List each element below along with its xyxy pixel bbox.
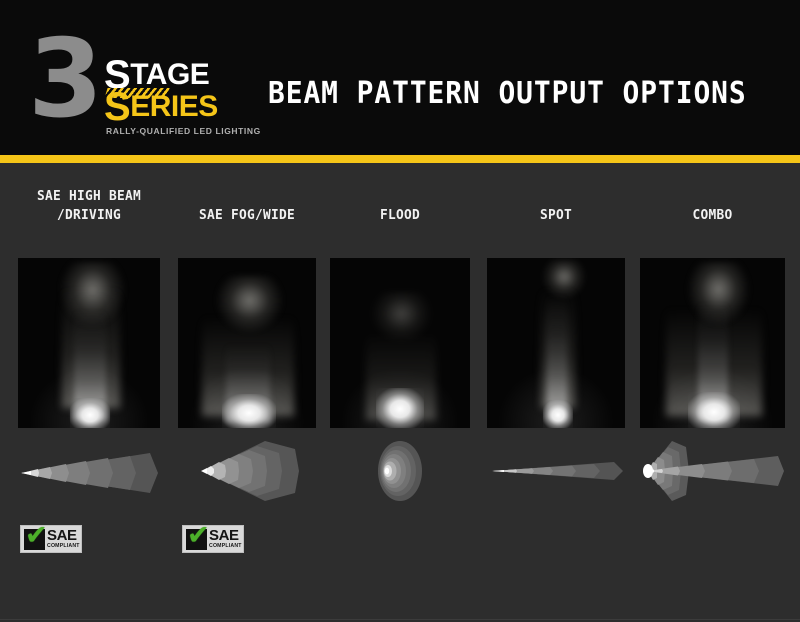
- logo-tagline: RALLY-QUALIFIED LED LIGHTING: [106, 126, 261, 136]
- sae-compliant-badge: ✔ SAE COMPLIANT: [182, 525, 244, 553]
- logo-stage-rest: TAGE: [130, 58, 209, 91]
- check-icon: ✔: [187, 524, 211, 548]
- beam-diagram-spot: [490, 451, 626, 491]
- brand-logo: 3 STAGE SERIES RALLY-QUALIFIED LED LIGHT…: [28, 22, 238, 132]
- sae-badge-subtitle: COMPLIANT: [47, 544, 80, 549]
- beam-photo-sae-fog-wide: [178, 258, 316, 428]
- header-bar: 3 STAGE SERIES RALLY-QUALIFIED LED LIGHT…: [0, 0, 800, 155]
- beam-diagram-sae-fog-wide: [195, 439, 305, 503]
- content-area: SAE HIGH BEAM /DRIVING: [0, 163, 800, 622]
- logo-series-word: SERIES: [104, 92, 218, 122]
- beam-diagram-sae-high-beam: [18, 445, 160, 501]
- beam-photo-spot: [487, 258, 625, 428]
- sae-compliant-badge: ✔ SAE COMPLIANT: [20, 525, 82, 553]
- page-title: BEAM PATTERN OUTPUT OPTIONS: [268, 78, 747, 110]
- beam-diagram-combo: [632, 439, 788, 503]
- column-label-sae-fog-wide: SAE FOG/WIDE: [181, 206, 312, 225]
- beam-pattern-poster: 3 STAGE SERIES RALLY-QUALIFIED LED LIGHT…: [0, 0, 800, 622]
- accent-divider: [0, 155, 800, 163]
- sae-badge-title: SAE: [47, 528, 80, 543]
- column-label-combo: COMBO: [644, 206, 782, 225]
- logo-numeral: 3: [28, 28, 97, 132]
- sae-badge-title: SAE: [209, 528, 242, 543]
- logo-series-rest: ERIES: [130, 90, 218, 123]
- check-icon: ✔: [25, 524, 49, 548]
- sae-badge-subtitle: COMPLIANT: [209, 544, 242, 549]
- beam-photo-sae-high-beam: [18, 258, 160, 428]
- beam-diagram-flood: [368, 439, 432, 503]
- beam-photo-combo: [640, 258, 785, 428]
- sae-checkbox: ✔: [24, 529, 45, 550]
- bottom-divider: [0, 619, 800, 620]
- sae-checkbox: ✔: [186, 529, 207, 550]
- column-label-sae-high-beam: SAE HIGH BEAM /DRIVING: [22, 187, 157, 225]
- beam-photo-flood: [330, 258, 470, 428]
- column-label-spot: SPOT: [490, 206, 621, 225]
- column-label-flood: FLOOD: [334, 206, 467, 225]
